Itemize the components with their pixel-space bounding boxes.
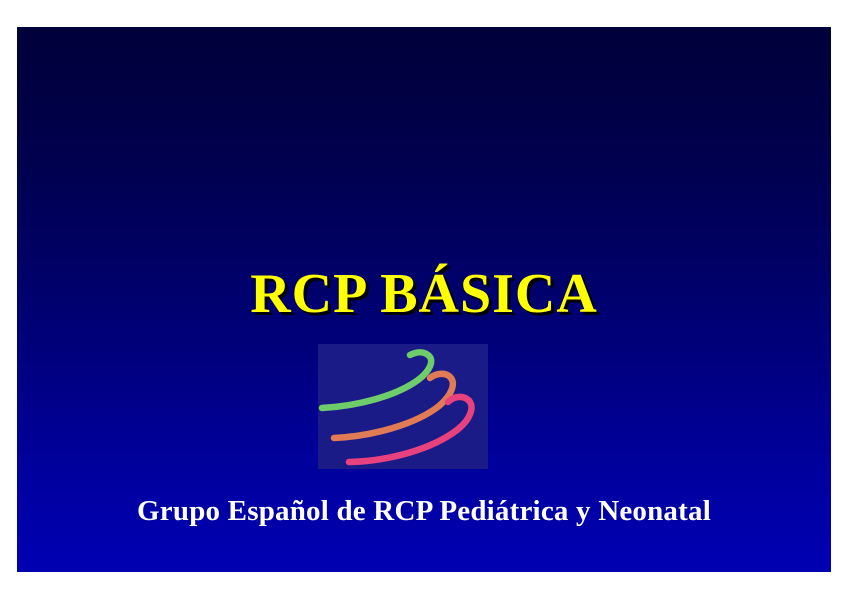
slide-title: RCP BÁSICA	[17, 264, 831, 324]
logo-green-arc	[322, 352, 431, 408]
slide-subtitle: Grupo Español de RCP Pediátrica y Neonat…	[17, 493, 831, 529]
slide-subtitle-text: Grupo Español de RCP Pediátrica y Neonat…	[137, 493, 711, 529]
logo-image-box	[318, 344, 488, 469]
slide-title-text: RCP BÁSICA	[250, 264, 598, 324]
rcp-swoosh-logo-icon	[318, 344, 488, 469]
presentation-slide: RCP BÁSICA Grupo Español de RCP Pediátri…	[17, 27, 831, 572]
logo-pink-arc	[349, 397, 472, 462]
slide-canvas: RCP BÁSICA Grupo Español de RCP Pediátri…	[0, 0, 848, 599]
